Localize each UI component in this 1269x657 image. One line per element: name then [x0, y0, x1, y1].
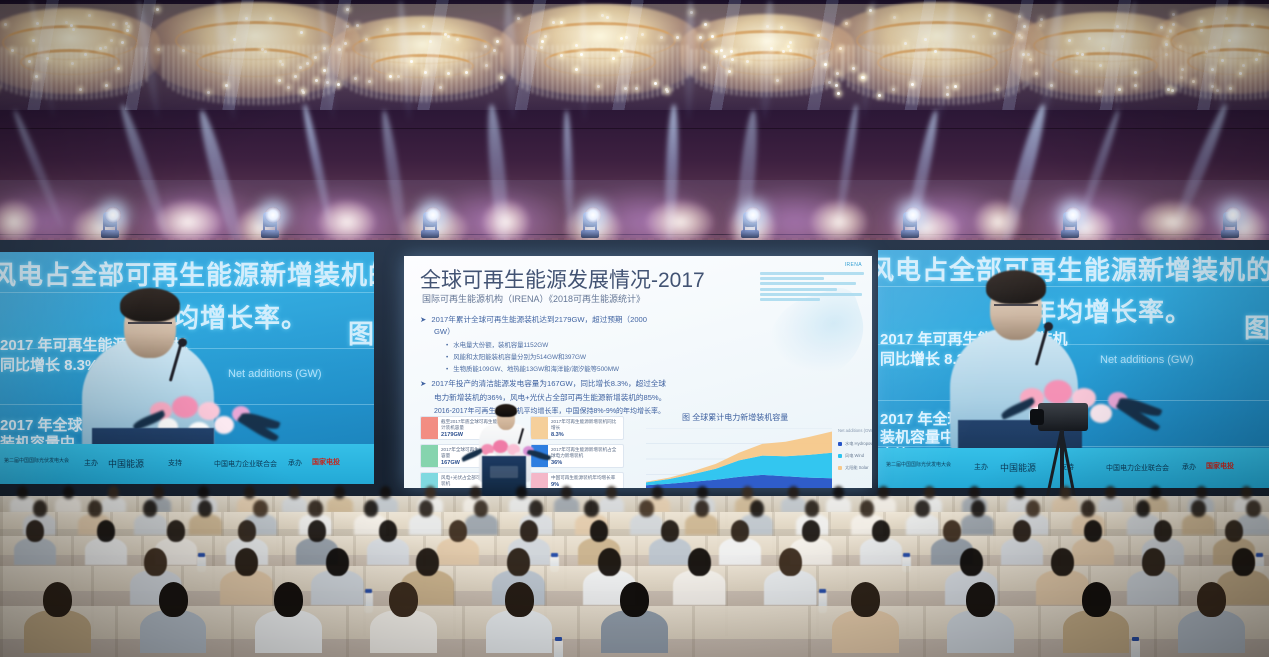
audience-head	[688, 548, 711, 576]
audience-shoulders	[1052, 497, 1077, 514]
bottle-cap	[551, 553, 558, 557]
audience-head	[244, 486, 255, 499]
chair-divider	[1154, 606, 1157, 657]
audience-head	[661, 520, 679, 542]
audience-head	[802, 520, 820, 542]
chair-divider	[808, 606, 811, 657]
audience-head	[742, 486, 753, 499]
audience-head	[159, 582, 188, 617]
audience-head	[1225, 520, 1243, 542]
chair-divider	[577, 606, 580, 657]
chair-divider	[0, 606, 3, 657]
audience-head	[561, 486, 572, 499]
chair-divider	[923, 606, 926, 657]
audience-head	[1150, 486, 1161, 499]
audience-seating	[0, 0, 1269, 657]
audience-shoulders	[826, 497, 851, 514]
audience-head	[1241, 486, 1252, 499]
audience-head	[63, 486, 74, 499]
audience-head	[851, 582, 880, 617]
audience-head	[915, 500, 929, 517]
bottle-cap	[365, 589, 372, 593]
audience-head	[364, 500, 378, 517]
audience-head	[1014, 486, 1025, 499]
audience-shoulders	[961, 514, 994, 536]
audience-head	[33, 500, 47, 517]
audience-head	[971, 500, 985, 517]
audience-shoulders	[465, 514, 498, 536]
bottle-cap	[819, 589, 826, 593]
audience-head	[652, 486, 663, 499]
audience-head	[1084, 520, 1102, 542]
audience-head	[153, 486, 164, 499]
audience-shoulders	[630, 514, 663, 536]
audience-head	[108, 486, 119, 499]
audience-head	[1232, 548, 1255, 576]
audience-shoulders	[685, 514, 718, 536]
audience-shoulders	[906, 514, 939, 536]
audience-shoulders	[55, 497, 80, 514]
audience-head	[1105, 486, 1116, 499]
audience-head	[326, 548, 349, 576]
chair-divider	[346, 606, 349, 657]
bottle-cap	[1132, 637, 1139, 641]
audience-head	[943, 520, 961, 542]
audience-head	[598, 548, 621, 576]
audience-head	[449, 520, 467, 542]
audience-head	[969, 486, 980, 499]
audience-head	[805, 500, 819, 517]
audience-head	[380, 486, 391, 499]
audience-head	[416, 548, 439, 576]
audience-head	[1051, 548, 1074, 576]
audience-head	[144, 548, 167, 576]
audience-head	[505, 582, 534, 617]
audience-shoulders	[10, 497, 35, 514]
audience-head	[1060, 486, 1071, 499]
audience-head	[960, 548, 983, 576]
audience-shoulders	[1098, 497, 1123, 514]
audience-head	[1082, 582, 1111, 617]
audience-head	[1026, 500, 1040, 517]
audience-shoulders	[101, 497, 126, 514]
audience-head	[308, 500, 322, 517]
audience-shoulders	[781, 497, 806, 514]
audience-head	[289, 486, 300, 499]
bottle-cap	[903, 553, 910, 557]
audience-head	[620, 582, 649, 617]
audience-head	[779, 548, 802, 576]
bottle-cap	[1256, 553, 1263, 557]
conference-stage-photo: 风电占全部可再生能源新增装机的85% 年均增长率。 图 2017 年可再生能源新…	[0, 0, 1269, 657]
audience-head	[788, 486, 799, 499]
audience-shoulders	[189, 514, 222, 536]
audience-head	[1191, 500, 1205, 517]
audience-head	[1013, 520, 1031, 542]
water-bottle	[1131, 640, 1140, 657]
audience-head	[639, 500, 653, 517]
audience-head	[17, 486, 28, 499]
audience-head	[1142, 548, 1165, 576]
audience-head	[88, 500, 102, 517]
audience-shoulders	[134, 514, 167, 536]
audience-head	[516, 486, 527, 499]
audience-head	[474, 500, 488, 517]
chair-divider	[462, 606, 465, 657]
chair-divider	[1038, 606, 1041, 657]
audience-head	[419, 500, 433, 517]
audience-shoulders	[554, 497, 579, 514]
audience-head	[389, 582, 418, 617]
audience-head	[590, 520, 608, 542]
audience-head	[872, 520, 890, 542]
chair-divider	[231, 606, 234, 657]
bottle-cap	[555, 637, 562, 641]
audience-head	[750, 500, 764, 517]
audience-head	[1246, 500, 1260, 517]
audience-head	[97, 520, 115, 542]
audience-head	[731, 520, 749, 542]
audience-head	[695, 500, 709, 517]
audience-shoulders	[327, 497, 352, 514]
audience-head	[274, 582, 303, 617]
audience-head	[379, 520, 397, 542]
audience-head	[253, 500, 267, 517]
audience-shoulders	[599, 497, 624, 514]
audience-head	[1196, 486, 1207, 499]
audience-head	[1081, 500, 1095, 517]
water-bottle	[554, 640, 563, 657]
audience-head	[235, 548, 258, 576]
audience-head	[43, 582, 72, 617]
audience-head	[606, 486, 617, 499]
audience-head	[1136, 500, 1150, 517]
bottle-cap	[198, 553, 205, 557]
audience-head	[584, 500, 598, 517]
audience-head	[697, 486, 708, 499]
audience-head	[1154, 520, 1172, 542]
audience-shoulders	[409, 514, 442, 536]
audience-head	[308, 520, 326, 542]
audience-head	[878, 486, 889, 499]
audience-head	[507, 548, 530, 576]
audience-head	[238, 520, 256, 542]
audience-shoulders	[282, 497, 307, 514]
audience-head	[143, 500, 157, 517]
audience-head	[1197, 582, 1226, 617]
chair-divider	[692, 606, 695, 657]
audience-head	[198, 500, 212, 517]
audience-head	[520, 520, 538, 542]
audience-head	[26, 520, 44, 542]
audience-head	[425, 486, 436, 499]
audience-shoulders	[871, 497, 896, 514]
audience-head	[833, 486, 844, 499]
audience-head	[167, 520, 185, 542]
audience-head	[924, 486, 935, 499]
chair-divider	[115, 606, 118, 657]
audience-shoulders	[1182, 514, 1215, 536]
audience-head	[966, 582, 995, 617]
